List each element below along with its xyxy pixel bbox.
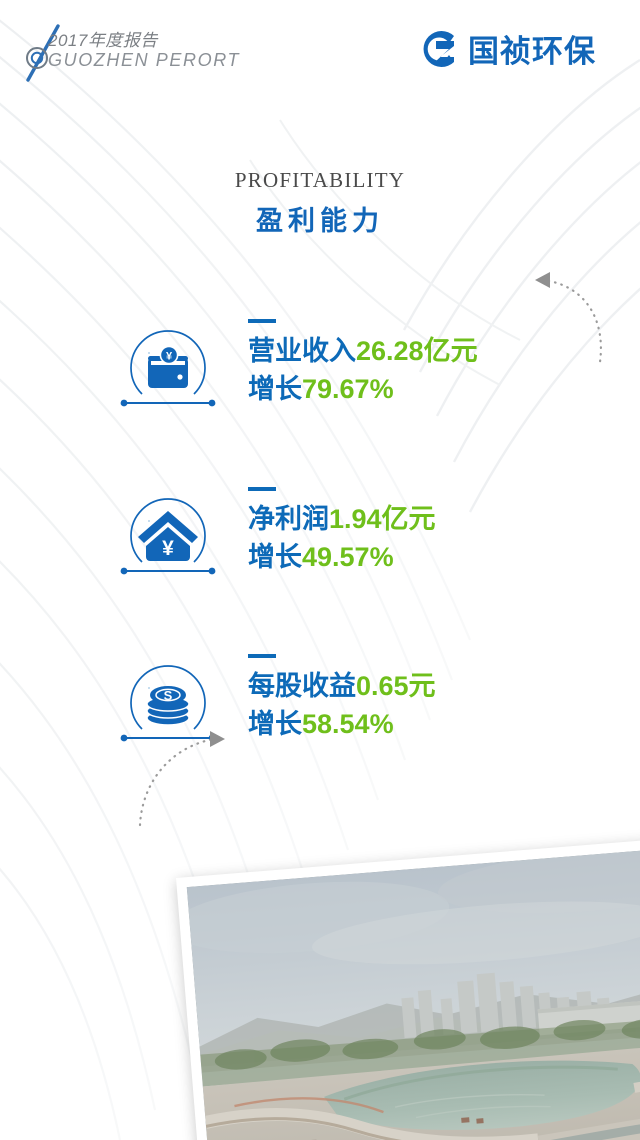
metric-primary-line: 营业收入26.28亿元 — [248, 332, 478, 370]
report-title-block: 2017年度报告 GUOZHEN PERORT — [48, 31, 240, 70]
metric-dash — [248, 654, 276, 658]
metric-dash — [248, 487, 276, 491]
metric-primary-line: 每股收益0.65元 — [248, 667, 436, 705]
page-header: 2017年度报告 GUOZHEN PERORT 国祯环保 — [0, 0, 640, 100]
metric-growth-line: 增长58.54% — [248, 705, 436, 743]
metric-value: 0.65元 — [356, 671, 436, 701]
report-year-en: GUOZHEN PERORT — [48, 50, 240, 70]
coin-stack-icon: S — [118, 660, 218, 756]
metric-label: 净利润 — [248, 504, 329, 534]
wallet-icon: ¥ — [118, 325, 218, 421]
metric-text-revenue: 营业收入26.28亿元 增长79.67% — [248, 319, 478, 409]
metric-dash — [248, 319, 276, 323]
report-year-cn: 2017年度报告 — [48, 31, 240, 50]
house-yen-icon: ¥ — [118, 493, 218, 589]
metric-growth-line: 增长79.67% — [248, 370, 478, 408]
metric-growth-line: 增长49.57% — [248, 538, 436, 576]
svg-text:S: S — [164, 688, 173, 703]
guozhen-cz-logo-icon — [416, 27, 460, 71]
photo-image — [187, 845, 640, 1140]
metric-growth-value: 58.54% — [302, 709, 394, 739]
brand-name: 国祯环保 — [468, 26, 596, 71]
svg-text:¥: ¥ — [166, 350, 173, 362]
svg-text:¥: ¥ — [162, 537, 174, 560]
metric-row-revenue: ¥ 营业收入26.28亿元 增长79.67% — [0, 325, 640, 435]
metric-primary-line: 净利润1.94亿元 — [248, 500, 436, 538]
metric-growth-label: 增长 — [248, 542, 302, 572]
metric-text-net-profit: 净利润1.94亿元 增长49.57% — [248, 487, 436, 577]
metric-growth-label: 增长 — [248, 374, 302, 404]
aerial-city-lake-photo — [176, 835, 640, 1140]
metric-row-eps: S 每股收益0.65元 增长58.54% — [0, 660, 640, 770]
section-title-en: PROFITABILITY — [0, 168, 640, 193]
report-page: 2017年度报告 GUOZHEN PERORT 国祯环保 PROFITABILI… — [0, 0, 640, 1140]
metric-row-net-profit: ¥ 净利润1.94亿元 增长49.57% — [0, 493, 640, 603]
metric-value: 26.28亿元 — [356, 336, 478, 366]
metric-text-eps: 每股收益0.65元 增长58.54% — [248, 654, 436, 744]
metric-label: 每股收益 — [248, 671, 356, 701]
metric-growth-value: 49.57% — [302, 542, 394, 572]
brand-lockup: 国祯环保 — [416, 26, 596, 71]
metric-growth-label: 增长 — [248, 709, 302, 739]
metric-label: 营业收入 — [248, 336, 356, 366]
metric-growth-value: 79.67% — [302, 374, 394, 404]
section-title-cn: 盈利能力 — [0, 199, 640, 238]
metric-value: 1.94亿元 — [329, 504, 436, 534]
section-title: PROFITABILITY 盈利能力 — [0, 168, 640, 238]
